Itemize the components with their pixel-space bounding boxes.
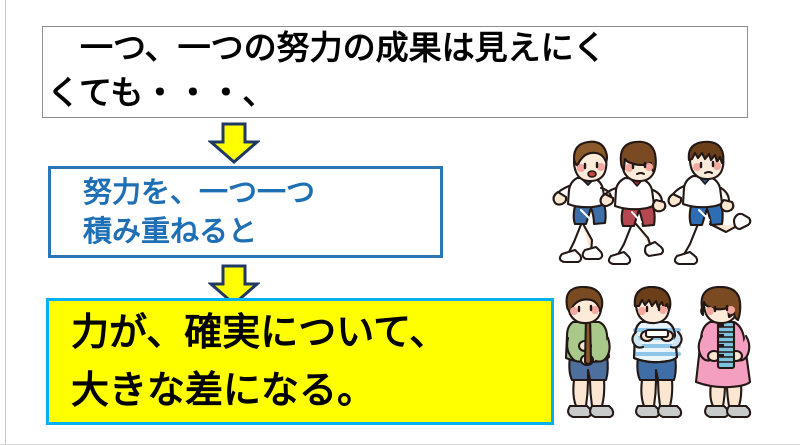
statement-box-bottom-text: 力が、確実について、大きな差になる。 — [71, 303, 447, 419]
statement-box-top-text: 一つ、一つの努力の成果は見えにくくても・・・、 — [47, 25, 747, 115]
child-running-2 — [601, 142, 666, 264]
statement-box-bottom: 力が、確実について、大きな差になる。 — [46, 298, 554, 425]
illustration-music-children — [556, 286, 784, 436]
statement-box-top: 一つ、一つの努力の成果は見えにくくても・・・、 — [42, 26, 748, 118]
statement-box-top-line1: 一つ、一つの努力の成果は見えにく — [47, 28, 606, 67]
statement-box-bottom-line1: 力が、確実について、 — [71, 310, 447, 354]
statement-box-middle-line2: 積み重ねると — [83, 214, 257, 248]
child-running-3 — [669, 142, 751, 264]
illustration-running-children — [536, 140, 784, 268]
statement-box-middle-text: 努力を、一つ一つ積み重ねると — [83, 173, 315, 251]
slide-canvas: 一つ、一つの努力の成果は見えにくくても・・・、 努力を、一つ一つ積み重ねると 力… — [0, 0, 800, 445]
statement-box-top-line2: くても・・・、 — [47, 73, 275, 112]
child-recorder — [566, 287, 613, 417]
statement-box-bottom-line2: 大きな差になる。 — [71, 368, 375, 412]
left-edge-rule — [5, 0, 6, 445]
down-arrow-icon-1 — [208, 122, 260, 164]
statement-box-middle: 努力を、一つ一つ積み重ねると — [48, 166, 443, 258]
statement-box-middle-line1: 努力を、一つ一つ — [83, 175, 315, 209]
child-harmonica — [632, 287, 681, 417]
child-melodica — [696, 287, 750, 417]
